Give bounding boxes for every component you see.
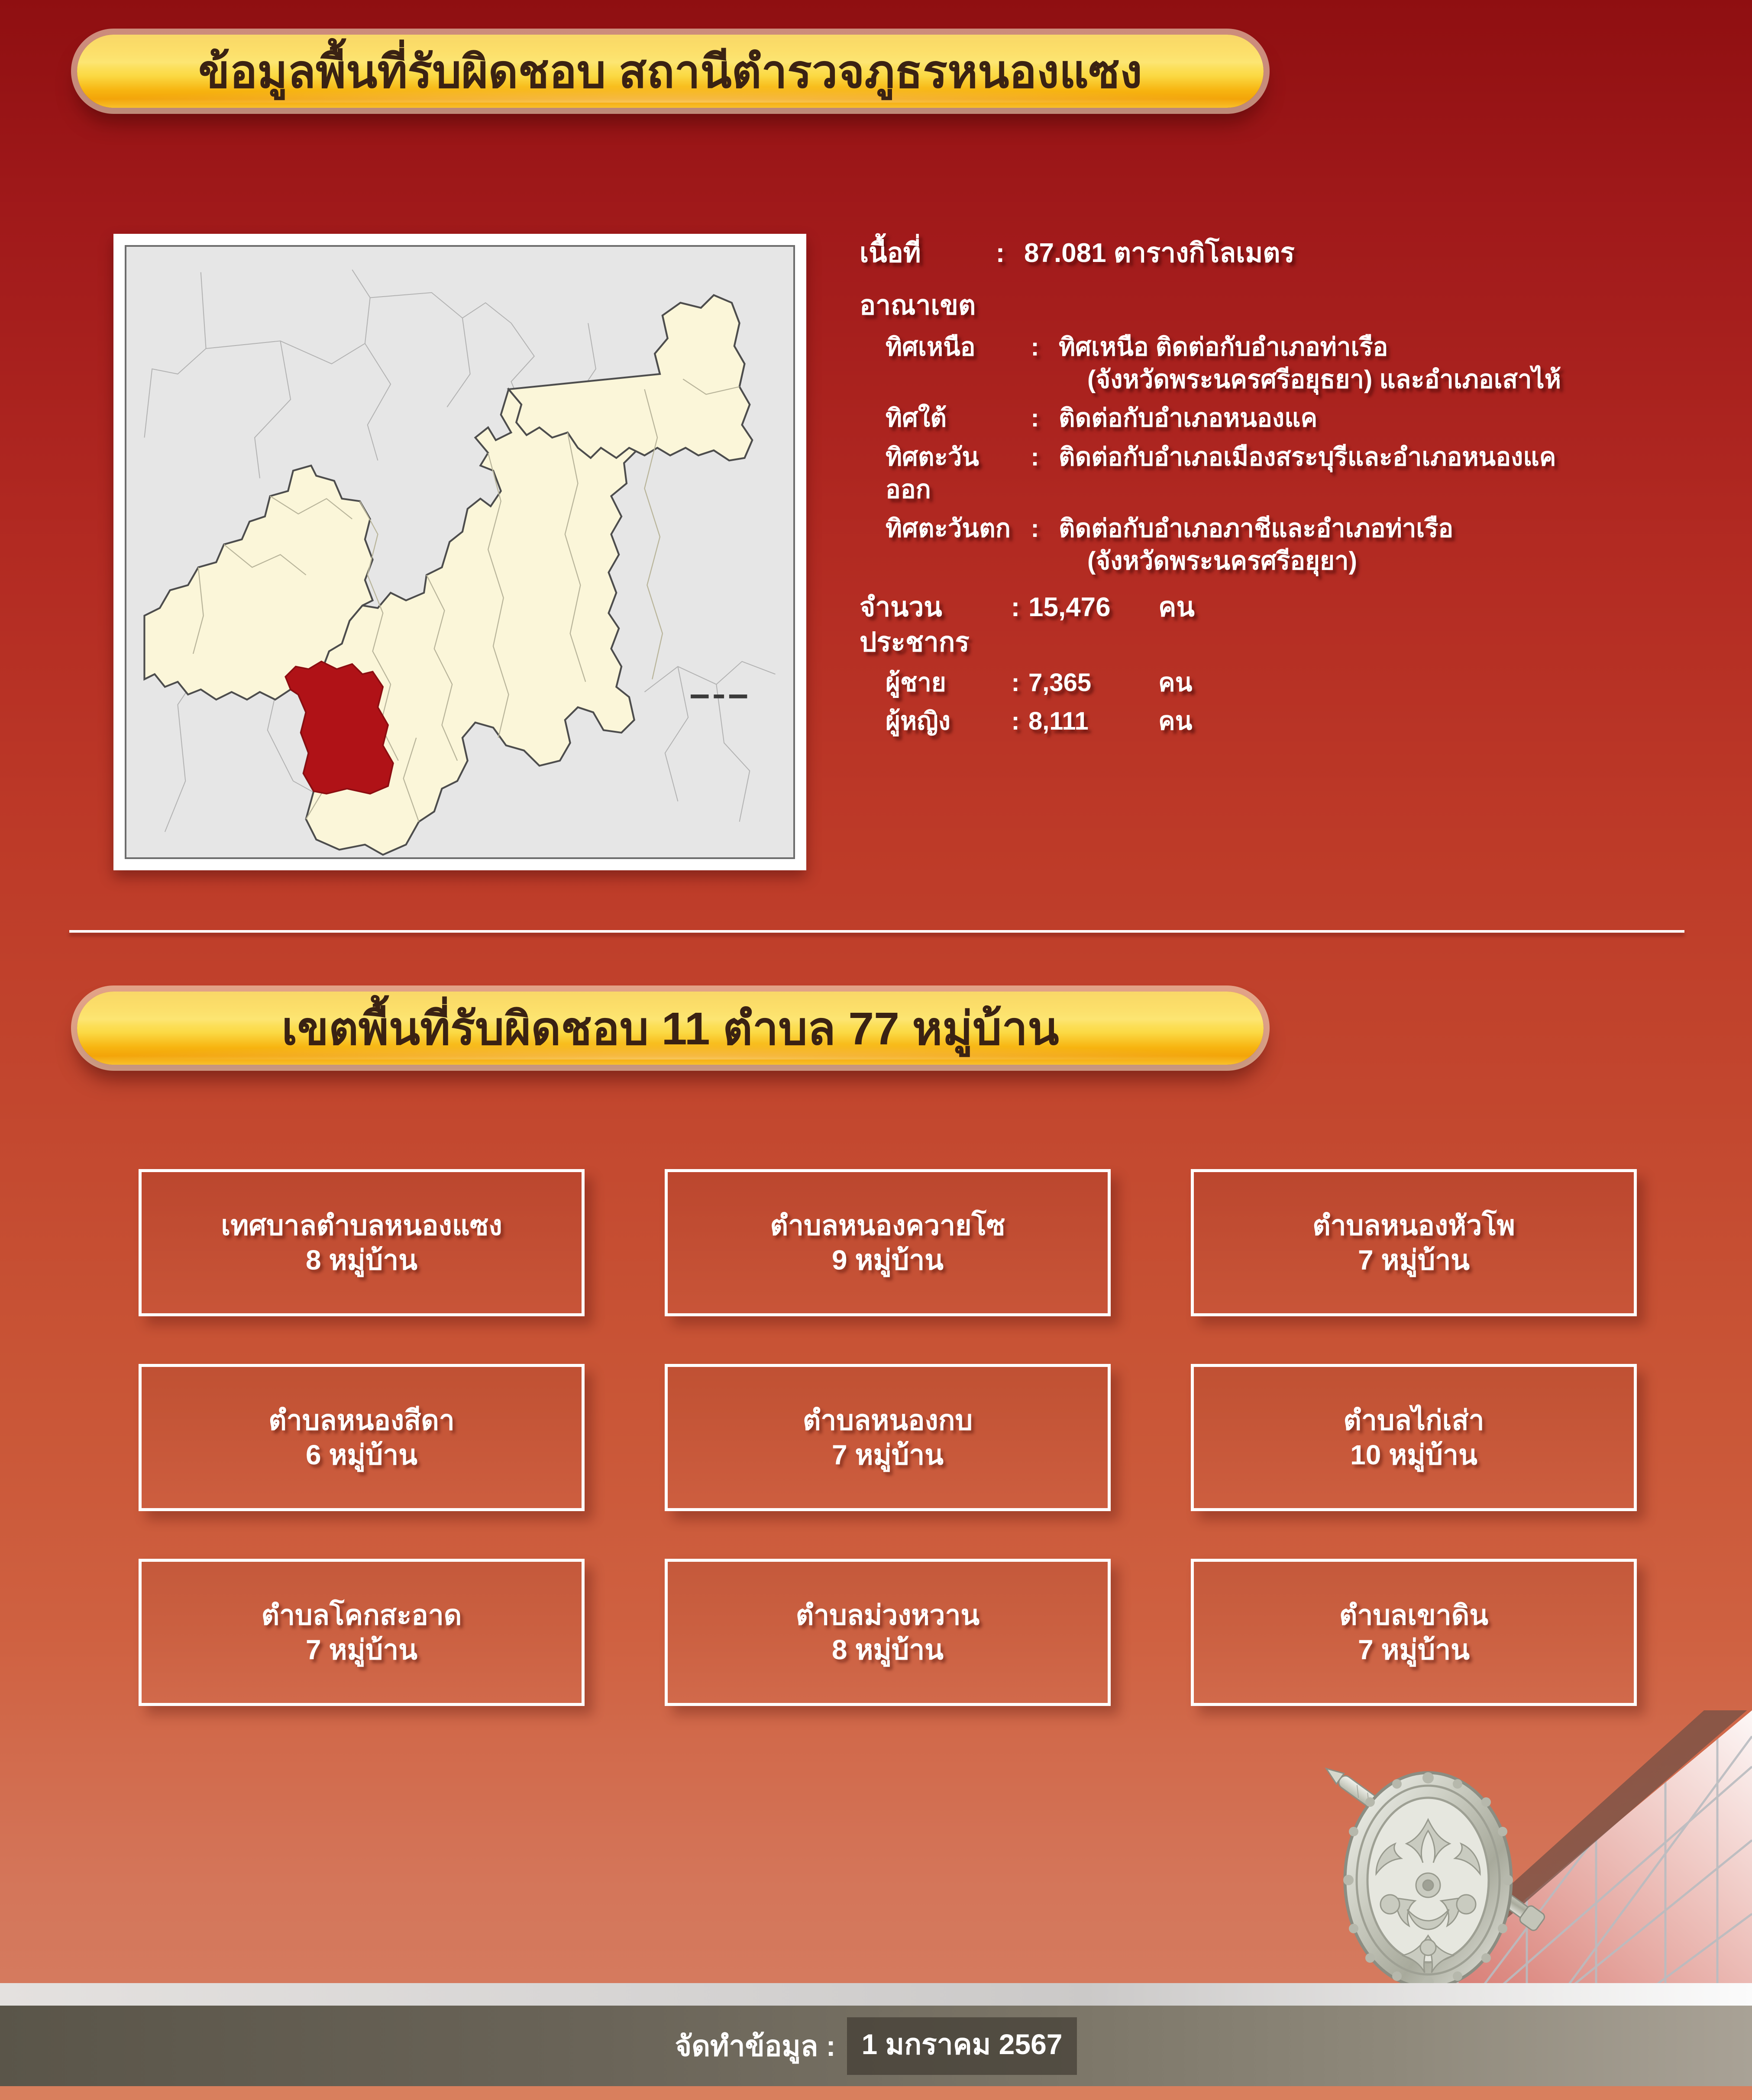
boundary-row-east: ทิศตะวันออก : ติดต่อกับอำเภอเมืองสระบุรี… (860, 441, 1726, 506)
population-male-value: 7,365 (1028, 666, 1158, 699)
boundary-east-label: ทิศตะวันออก (886, 441, 1011, 506)
boundary-north-label: ทิศเหนือ (886, 331, 1011, 363)
population-male-row: ผู้ชาย : 7,365 คน (860, 666, 1726, 699)
footer: จัดทำข้อมูล : 1 มกราคม 2567 (0, 1983, 1752, 2100)
population-male-unit: คน (1158, 666, 1192, 699)
population-female-colon: : (1002, 705, 1028, 737)
population-total-unit: คน (1158, 590, 1195, 625)
population-total-value: 15,476 (1028, 590, 1158, 625)
district-info-panel: เนื้อที่ : 87.081 ตารางกิโลเมตร อาณาเขต … (860, 236, 1726, 743)
tambon-villages: 10 หมู่บ้าน (1350, 1438, 1477, 1472)
boundary-east-value: ติดต่อกับอำเภอเมืองสระบุรีและอำเภอหนองแค (1059, 443, 1556, 471)
population-male-colon: : (1002, 666, 1028, 699)
boundary-west-value-cont: (จังหวัดพระนครศรีอยุยา) (1087, 545, 1726, 577)
tambon-card[interactable]: ตำบลม่วงหวาน 8 หมู่บ้าน (665, 1559, 1111, 1706)
shield-rim-ornaments (1343, 1772, 1513, 1988)
tambon-villages: 7 หมู่บ้าน (832, 1438, 944, 1472)
page-title: ข้อมูลพื้นที่รับผิดชอบ สถานีตำรวจภูธรหนอ… (198, 35, 1142, 108)
tambon-villages: 6 หมู่บ้าน (306, 1438, 417, 1472)
shield-inner (1367, 1798, 1489, 1962)
boundary-row-south: ทิศใต้ : ติดต่อกับอำเภอหนองแค (860, 402, 1726, 434)
boundary-south-value: ติดต่อกับอำเภอหนองแค (1059, 404, 1317, 432)
shield-ring (1357, 1786, 1500, 1974)
boundary-north-colon: : (1011, 331, 1059, 363)
district-map (125, 245, 795, 859)
tambon-card[interactable]: ตำบลโคกสะอาด 7 หมู่บ้าน (139, 1559, 585, 1706)
district-map-frame (113, 234, 806, 870)
boundary-row-north: ทิศเหนือ : ทิศเหนือ ติดต่อกับอำเภอท่าเรื… (860, 331, 1726, 396)
population-female-value: 8,111 (1028, 705, 1158, 737)
tambon-name: ตำบลไก่เส่า (1343, 1403, 1484, 1438)
boundary-west-value: ติดต่อกับอำเภอภาชีและอำเภอท่าเรือ (1059, 514, 1453, 543)
map-svg (126, 247, 793, 857)
tambon-villages: 7 หมู่บ้าน (1358, 1632, 1470, 1667)
sword-emblem (1320, 1761, 1546, 1988)
population-female-row: ผู้หญิง : 8,111 คน (860, 705, 1726, 737)
boundary-west-label: ทิศตะวันตก (886, 512, 1011, 545)
tambon-card[interactable]: ตำบลหนองสีดา 6 หมู่บ้าน (139, 1364, 585, 1511)
tambon-card[interactable]: ตำบลหนองกบ 7 หมู่บ้าน (665, 1364, 1111, 1511)
boundary-heading: อาณาเขต (860, 284, 1726, 326)
boundary-south-colon: : (1011, 402, 1059, 434)
boundary-north-value-cont: (จังหวัดพระนครศรีอยุธยา) และอำเภอเสาไห้ (1087, 363, 1726, 396)
shield-outer (1345, 1773, 1511, 1987)
footer-bottom-strip (0, 2086, 1752, 2100)
title-banner-wrapper: ข้อมูลพื้นที่รับผิดชอบ สถานีตำรวจภูธรหนอ… (77, 35, 1264, 130)
population-female-label: ผู้หญิง (886, 705, 1002, 737)
tambon-villages: 8 หมู่บ้าน (832, 1632, 944, 1667)
tambon-name: ตำบลเขาดิน (1339, 1598, 1488, 1632)
tambon-name: ตำบลหนองสีดา (268, 1403, 455, 1438)
area-row: เนื้อที่ : 87.081 ตารางกิโลเมตร (860, 236, 1726, 271)
tambon-villages: 7 หมู่บ้าน (306, 1632, 417, 1667)
tambon-name: เทศบาลตำบลหนองแซง (221, 1208, 502, 1243)
boundary-east-colon: : (1011, 441, 1059, 473)
tambon-name: ตำบลหนองหัวโพ (1312, 1208, 1515, 1243)
tambon-card[interactable]: ตำบลเขาดิน 7 หมู่บ้าน (1191, 1559, 1637, 1706)
population-total-label: จำนวนประชากร (860, 590, 1002, 660)
tambon-name: ตำบลหนองควายโซ (770, 1208, 1005, 1243)
map-scale-bar (691, 695, 747, 698)
zone-banner: เขตพื้นที่รับผิดชอบ 11 ตำบล 77 หมู่บ้าน (77, 992, 1264, 1065)
boundary-south-label: ทิศใต้ (886, 402, 1011, 434)
tambon-card[interactable]: เทศบาลตำบลหนองแซง 8 หมู่บ้าน (139, 1169, 585, 1316)
footer-label: จัดทำข้อมูล : (675, 2023, 836, 2069)
tambon-grid: เทศบาลตำบลหนองแซง 8 หมู่บ้าน ตำบลหนองควา… (139, 1169, 1637, 1706)
population-total-row: จำนวนประชากร : 15,476 คน (860, 590, 1726, 660)
tambon-villages: 8 หมู่บ้าน (306, 1243, 417, 1277)
footer-date: 1 มกราคม 2567 (847, 2017, 1077, 2075)
zone-title: เขตพื้นที่รับผิดชอบ 11 ตำบล 77 หมู่บ้าน (281, 992, 1059, 1065)
area-label: เนื้อที่ (860, 236, 976, 271)
area-colon: : (976, 236, 1024, 271)
tambon-villages: 7 หมู่บ้าน (1358, 1243, 1470, 1277)
population-male-label: ผู้ชาย (886, 666, 1002, 699)
floral-motif (1376, 1819, 1480, 1973)
footer-content: จัดทำข้อมูล : 1 มกราคม 2567 (0, 2006, 1752, 2086)
tambon-name: ตำบลโคกสะอาด (262, 1598, 462, 1632)
zone-banner-wrapper: เขตพื้นที่รับผิดชอบ 11 ตำบล 77 หมู่บ้าน (77, 992, 1264, 1091)
population-block: จำนวนประชากร : 15,476 คน ผู้ชาย : 7,365 … (860, 590, 1726, 737)
population-female-unit: คน (1158, 705, 1192, 737)
footer-highlight-strip (0, 1983, 1752, 2006)
tambon-name: ตำบลหนองกบ (803, 1403, 973, 1438)
section-divider (69, 930, 1684, 933)
boundary-row-west: ทิศตะวันตก : ติดต่อกับอำเภอภาชีและอำเภอท… (860, 512, 1726, 578)
tambon-villages: 9 หมู่บ้าน (832, 1243, 944, 1277)
boundary-north-value: ทิศเหนือ ติดต่อกับอำเภอท่าเรือ (1059, 333, 1388, 361)
tambon-card[interactable]: ตำบลหนองควายโซ 9 หมู่บ้าน (665, 1169, 1111, 1316)
population-total-colon: : (1002, 590, 1028, 625)
sword-icon (1320, 1761, 1546, 1932)
tambon-card[interactable]: ตำบลไก่เส่า 10 หมู่บ้าน (1191, 1364, 1637, 1511)
title-banner: ข้อมูลพื้นที่รับผิดชอบ สถานีตำรวจภูธรหนอ… (77, 35, 1264, 108)
boundary-west-colon: : (1011, 512, 1059, 545)
area-value: 87.081 ตารางกิโลเมตร (1024, 236, 1726, 271)
tambon-card[interactable]: ตำบลหนองหัวโพ 7 หมู่บ้าน (1191, 1169, 1637, 1316)
tambon-name: ตำบลม่วงหวาน (796, 1598, 980, 1632)
